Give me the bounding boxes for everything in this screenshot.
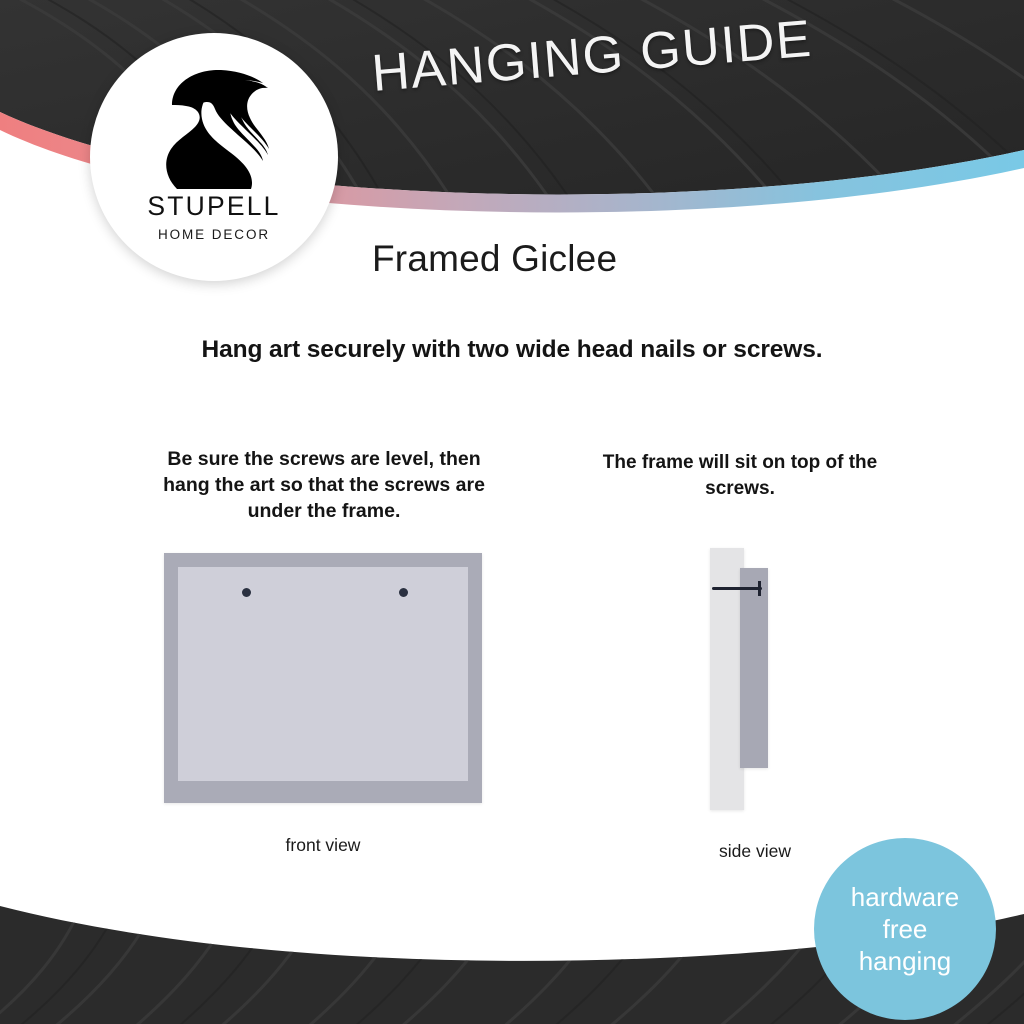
intro-instruction-text: Hang art securely with two wide head nai… [0,336,1024,364]
product-type-title: Framed Giclee [372,238,617,280]
front-view-art-panel [178,567,468,781]
stupell-swirl-icon [155,61,273,189]
side-view-diagram [700,545,810,815]
hanging-guide-page: HANGING GUIDE STUPELL HOME DECOR Framed … [0,0,1024,1024]
screw-dot-right [399,588,408,597]
nail-icon [712,587,762,590]
logo-brand-name: STUPELL [147,191,280,222]
badge-line-3: hanging [859,945,952,977]
front-view-diagram [164,553,482,803]
frame-strip [740,568,768,768]
badge-line-2: free [883,913,928,945]
front-view-label: front view [164,835,482,856]
hardware-free-hanging-badge: hardware free hanging [814,838,996,1020]
screw-dot-left [242,588,251,597]
badge-line-1: hardware [851,881,959,913]
side-view-label: side view [675,841,835,862]
front-view-instruction-text: Be sure the screws are level, then hang … [160,446,488,524]
nail-head-icon [758,581,761,596]
brand-logo-badge: STUPELL HOME DECOR [90,33,338,281]
side-view-instruction-text: The frame will sit on top of the screws. [590,450,890,502]
logo-brand-subtitle: HOME DECOR [158,227,270,242]
